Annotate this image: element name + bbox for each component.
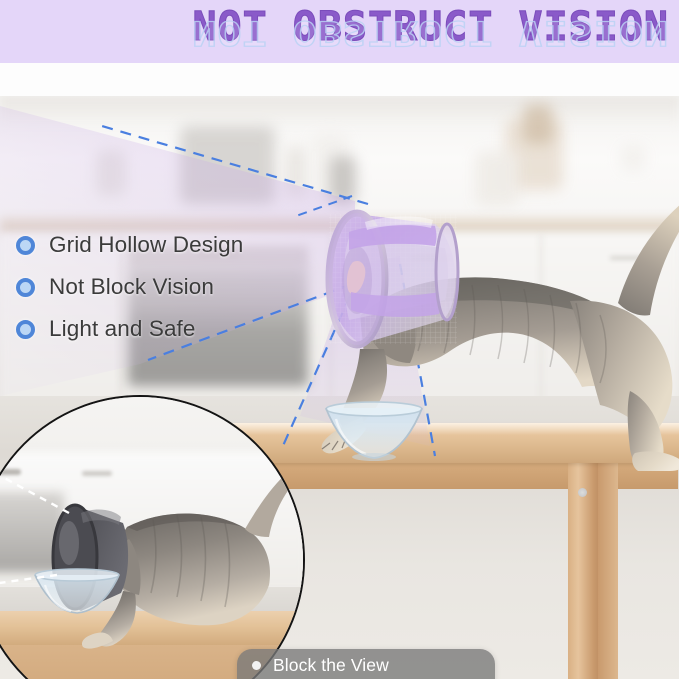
feature-item: Not Block Vision (16, 266, 316, 308)
blocked-sight-line-upper (0, 473, 69, 513)
inset-scene (0, 397, 305, 679)
background-object (180, 126, 275, 204)
cabinet-handle (410, 256, 450, 260)
inset-cat-tail (245, 469, 299, 537)
background-object (620, 144, 646, 172)
feature-list: Grid Hollow Design Not Block Vision Ligh… (16, 224, 316, 350)
background-object (523, 104, 553, 144)
main-photo: Grid Hollow Design Not Block Vision Ligh… (0, 96, 679, 679)
feature-label: Grid Hollow Design (49, 232, 243, 258)
ring-bullet-icon (16, 278, 35, 297)
background-object (475, 151, 519, 206)
feature-item: Grid Hollow Design (16, 224, 316, 266)
table-screw (578, 488, 587, 497)
background-object (330, 156, 356, 204)
upper-cabinets (0, 96, 679, 126)
page-title-reflection: NOT OBSTRUCT VISION (192, 13, 669, 52)
feature-label: Not Block Vision (49, 274, 214, 300)
header: NOT OBSTRUCT VISION NOT OBSTRUCT VISION (0, 0, 679, 96)
background-object (96, 150, 126, 196)
ring-bullet-icon (16, 320, 35, 339)
ring-bullet-icon (16, 236, 35, 255)
comparison-inset-photo (0, 395, 305, 679)
drawback-item: Block the View (237, 649, 495, 679)
table-leg-front (598, 456, 618, 679)
dot-bullet-icon (252, 661, 261, 670)
drawbacks-callout: Block the View Easy to Bump into Things … (237, 649, 495, 679)
cabinet-seam (540, 234, 542, 409)
cabinet-seam (330, 234, 332, 409)
product-feature-image: NOT OBSTRUCT VISION NOT OBSTRUCT VISION (0, 0, 679, 679)
cabinet-handle (610, 256, 648, 260)
inset-cone-inner-highlight (59, 521, 79, 565)
feature-item: Light and Safe (16, 308, 316, 350)
drawback-label: Block the View (273, 655, 389, 676)
feature-label: Light and Safe (49, 316, 196, 342)
background-object (285, 146, 307, 198)
